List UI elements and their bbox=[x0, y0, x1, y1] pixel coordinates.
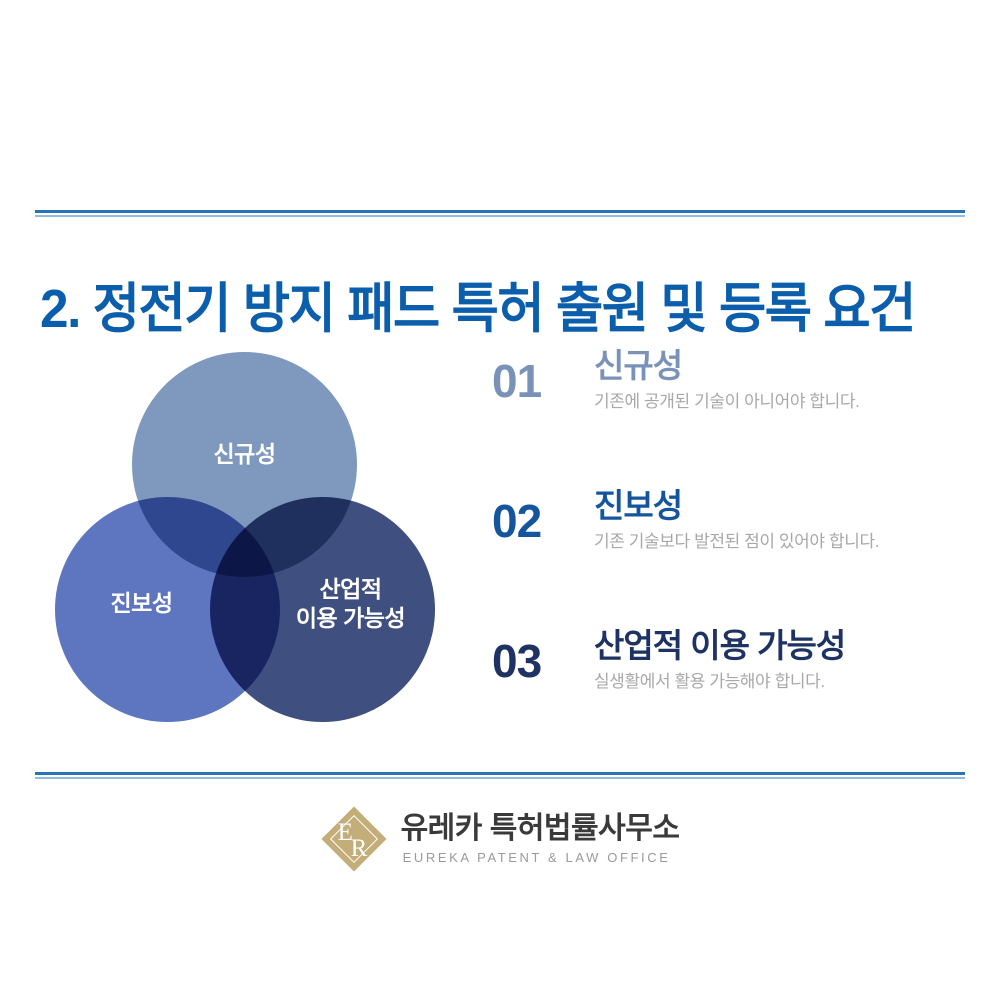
venn-circle-industrial: 산업적 이용 가능성 bbox=[210, 497, 435, 722]
venn-label-inventive: 진보성 bbox=[111, 589, 173, 618]
requirement-text-02: 진보성 기존 기술보다 발전된 점이 있어야 합니다. bbox=[594, 488, 962, 553]
requirement-description-02: 기존 기술보다 발전된 점이 있어야 합니다. bbox=[594, 531, 962, 553]
requirement-number-01: 01 bbox=[492, 348, 594, 404]
requirement-heading-02: 진보성 bbox=[594, 488, 962, 525]
logo-text-block: 유레카 특허법률사무소 EUREKA PATENT & LAW OFFICE bbox=[401, 812, 680, 865]
slide-canvas: 2. 정전기 방지 패드 특허 출원 및 등록 요건 신규성 진보성 산업적 이… bbox=[0, 0, 1000, 1000]
divider-bottom bbox=[35, 772, 965, 780]
requirement-number-02: 02 bbox=[492, 488, 594, 544]
divider-top-thin-rule bbox=[35, 215, 965, 217]
venn-label-novelty: 신규성 bbox=[214, 440, 276, 469]
requirement-description-03: 실생활에서 활용 가능해야 합니다. bbox=[594, 671, 962, 693]
requirement-description-01: 기존에 공개된 기술이 아니어야 합니다. bbox=[594, 391, 962, 413]
divider-bottom-thin-rule bbox=[35, 777, 965, 779]
requirement-item-novelty: 01 신규성 기존에 공개된 기술이 아니어야 합니다. bbox=[492, 348, 962, 488]
requirement-heading-03: 산업적 이용 가능성 bbox=[594, 628, 962, 665]
divider-top bbox=[35, 210, 965, 218]
company-name-english: EUREKA PATENT & LAW OFFICE bbox=[403, 850, 671, 866]
venn-label-industrial: 산업적 이용 가능성 bbox=[296, 575, 405, 634]
requirement-item-inventive: 02 진보성 기존 기술보다 발전된 점이 있어야 합니다. bbox=[492, 488, 962, 628]
logo-letter-r: R bbox=[351, 836, 368, 861]
requirement-number-03: 03 bbox=[492, 628, 594, 684]
requirement-text-01: 신규성 기존에 공개된 기술이 아니어야 합니다. bbox=[594, 348, 962, 413]
requirement-heading-01: 신규성 bbox=[594, 348, 962, 385]
footer-logo: E R 유레카 특허법률사무소 EUREKA PATENT & LAW OFFI… bbox=[0, 806, 1000, 872]
venn-diagram: 신규성 진보성 산업적 이용 가능성 bbox=[55, 352, 445, 722]
diamond-logo-icon: E R bbox=[321, 806, 387, 872]
company-name-korean: 유레카 특허법률사무소 bbox=[401, 812, 680, 846]
requirement-text-03: 산업적 이용 가능성 실생활에서 활용 가능해야 합니다. bbox=[594, 628, 962, 693]
requirement-item-industrial: 03 산업적 이용 가능성 실생활에서 활용 가능해야 합니다. bbox=[492, 628, 962, 768]
page-title: 2. 정전기 방지 패드 특허 출원 및 등록 요건 bbox=[40, 279, 924, 339]
requirements-list: 01 신규성 기존에 공개된 기술이 아니어야 합니다. 02 진보성 기존 기… bbox=[492, 348, 962, 768]
